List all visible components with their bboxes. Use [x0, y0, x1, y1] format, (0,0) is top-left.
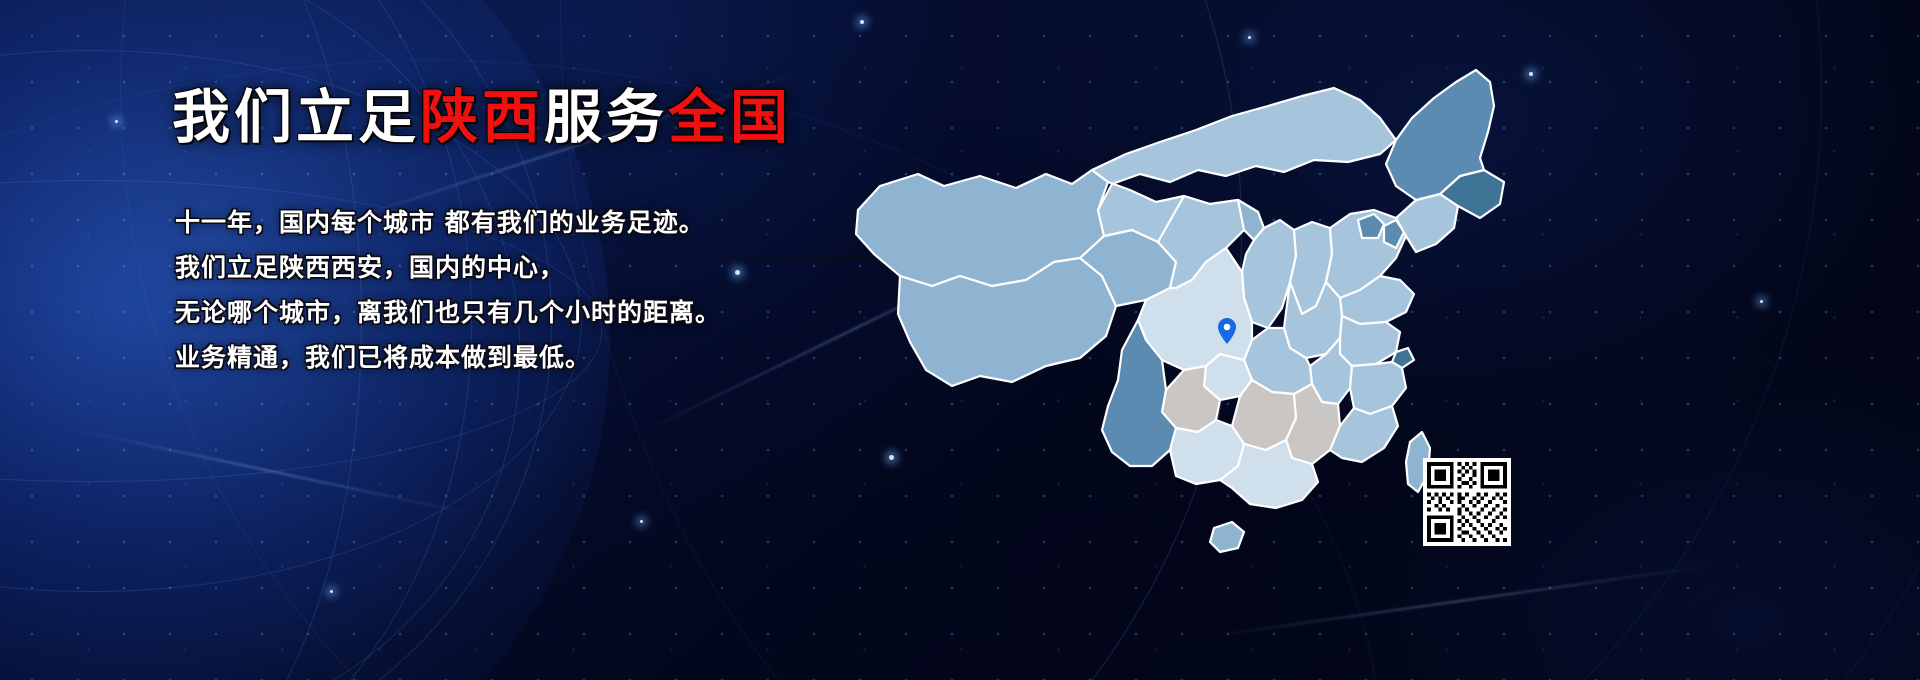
body-line-1: 十一年，国内每个城市 都有我们的业务足迹。 — [175, 200, 875, 245]
province-liaoning — [1396, 194, 1458, 252]
headline-segment-3: 服务 — [544, 83, 668, 151]
province-hainan — [1210, 522, 1244, 552]
banner-body-copy: 十一年，国内每个城市 都有我们的业务足迹。 我们立足陕西西安，国内的中心， 无论… — [175, 200, 875, 380]
hero-banner: 我们立足陕西服务全国 十一年，国内每个城市 都有我们的业务足迹。 我们立足陕西西… — [0, 0, 1920, 680]
province-fujian — [1330, 406, 1398, 462]
headline-segment-1: 我们立足 — [172, 83, 420, 151]
location-pin-icon — [1218, 318, 1236, 344]
star-dot — [330, 590, 333, 593]
body-line-3: 无论哪个城市，离我们也只有几个小时的距离。 — [175, 290, 875, 335]
body-line-4: 业务精通，我们已将成本做到最低。 — [175, 335, 875, 380]
china-map — [840, 14, 1520, 574]
headline-segment-highlight-shaanxi: 陕西 — [420, 83, 544, 151]
star-dot — [1529, 72, 1533, 76]
star-dot — [115, 120, 118, 123]
banner-headline: 我们立足陕西服务全国 — [172, 88, 792, 146]
body-line-2: 我们立足陕西西安，国内的中心， — [175, 245, 875, 290]
headline-segment-highlight-national: 全国 — [668, 83, 792, 151]
province-zhejiang — [1350, 362, 1406, 414]
qr-code[interactable] — [1423, 458, 1511, 546]
star-dot — [640, 520, 643, 523]
star-dot — [1760, 300, 1763, 303]
province-jiangsu — [1340, 316, 1400, 366]
